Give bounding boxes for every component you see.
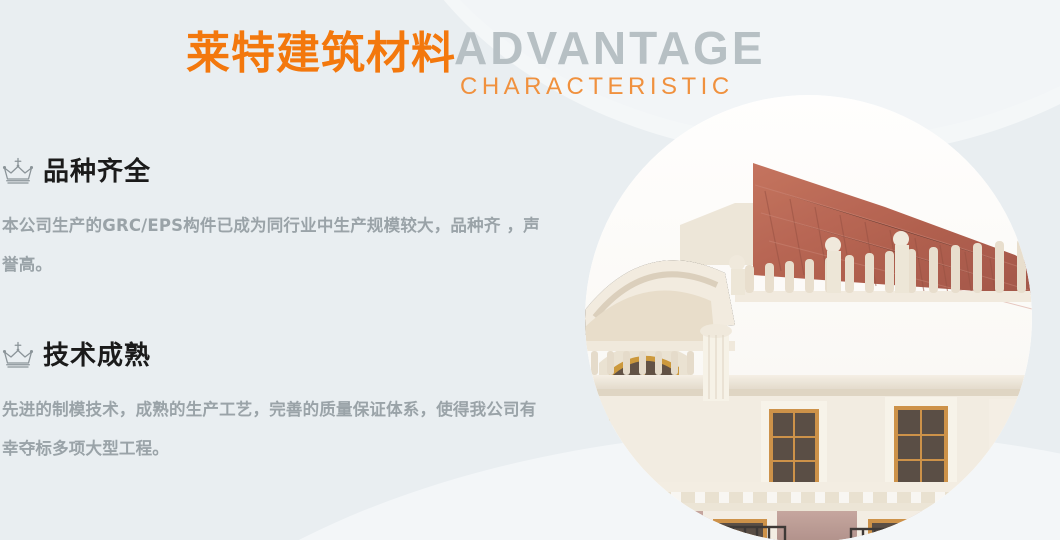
feature-list: 品种齐全 本公司生产的GRC/EPS构件已成为同行业中生产规模较大，品种齐 ，声…: [0, 152, 580, 468]
building-photo-illustration: [585, 95, 1032, 540]
feature-header: 品种齐全: [0, 152, 580, 192]
banner-title-en-sub: CHARACTERISTIC: [460, 72, 766, 102]
banner-title-en-main: ADVANTAGE: [454, 24, 766, 72]
advantage-banner: 莱特建筑材料 ADVANTAGE CHARACTERISTIC: [0, 0, 1060, 540]
building-photo: [585, 95, 1032, 540]
feature-description: 本公司生产的GRC/EPS构件已成为同行业中生产规模较大，品种齐 ，声誉高。: [0, 206, 550, 284]
feature-title: 技术成熟: [43, 341, 151, 371]
feature-item: 技术成熟 先进的制模技术，成熟的生产工艺，完善的质量保证体系，使得我公司有幸夺标…: [0, 336, 580, 468]
banner-header: 莱特建筑材料 ADVANTAGE CHARACTERISTIC: [0, 0, 1060, 120]
feature-title: 品种齐全: [43, 157, 151, 187]
crown-icon: [2, 157, 34, 187]
banner-title-cn: 莱特建筑材料: [186, 26, 456, 82]
feature-item: 品种齐全 本公司生产的GRC/EPS构件已成为同行业中生产规模较大，品种齐 ，声…: [0, 152, 580, 284]
feature-header: 技术成熟: [0, 336, 580, 376]
banner-title-en-group: ADVANTAGE CHARACTERISTIC: [454, 24, 766, 102]
crown-icon: [2, 341, 34, 371]
feature-description: 先进的制模技术，成熟的生产工艺，完善的质量保证体系，使得我公司有幸夺标多项大型工…: [0, 390, 550, 468]
